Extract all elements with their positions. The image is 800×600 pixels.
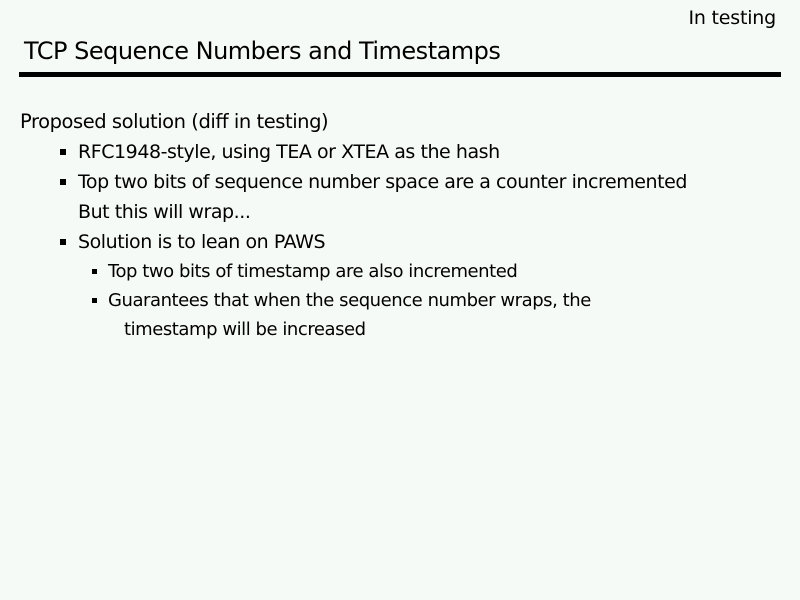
bullet-line: Top two bits of timestamp are also incre… — [88, 257, 780, 286]
bullet-text: Solution is to lean on PAWS — [78, 231, 325, 253]
bullet-text: Top two bits of sequence number space ar… — [78, 171, 687, 193]
bullet-text: timestamp will be increased — [124, 319, 366, 340]
square-bullet-icon — [60, 239, 66, 245]
bullet-text: Proposed solution (diff in testing) — [20, 110, 328, 133]
square-bullet-icon — [92, 298, 97, 303]
bullet-text: Top two bits of timestamp are also incre… — [108, 261, 517, 282]
slide-header-note: In testing — [688, 6, 776, 30]
title-underline-rule — [19, 72, 781, 77]
square-bullet-icon — [60, 179, 66, 185]
bullet-line: Guarantees that when the sequence number… — [88, 286, 780, 315]
square-bullet-icon — [92, 269, 97, 274]
slide-body: Proposed solution (diff in testing) RFC1… — [20, 106, 780, 344]
bullet-text: RFC1948-style, using TEA or XTEA as the … — [78, 141, 500, 163]
bullet-text: But this will wrap... — [78, 201, 250, 223]
slide-title: TCP Sequence Numbers and Timestamps — [24, 36, 780, 66]
bullet-line: RFC1948-style, using TEA or XTEA as the … — [58, 137, 780, 167]
bullet-continuation-line: But this will wrap... — [58, 197, 780, 227]
presentation-slide: In testing TCP Sequence Numbers and Time… — [0, 0, 800, 600]
square-bullet-icon — [60, 149, 66, 155]
bullet-line: Proposed solution (diff in testing) — [20, 106, 780, 137]
bullet-line: Solution is to lean on PAWS — [58, 227, 780, 257]
bullet-continuation-line: timestamp will be increased — [88, 315, 780, 344]
bullet-line: Top two bits of sequence number space ar… — [58, 167, 780, 197]
bullet-text: Guarantees that when the sequence number… — [108, 290, 591, 311]
